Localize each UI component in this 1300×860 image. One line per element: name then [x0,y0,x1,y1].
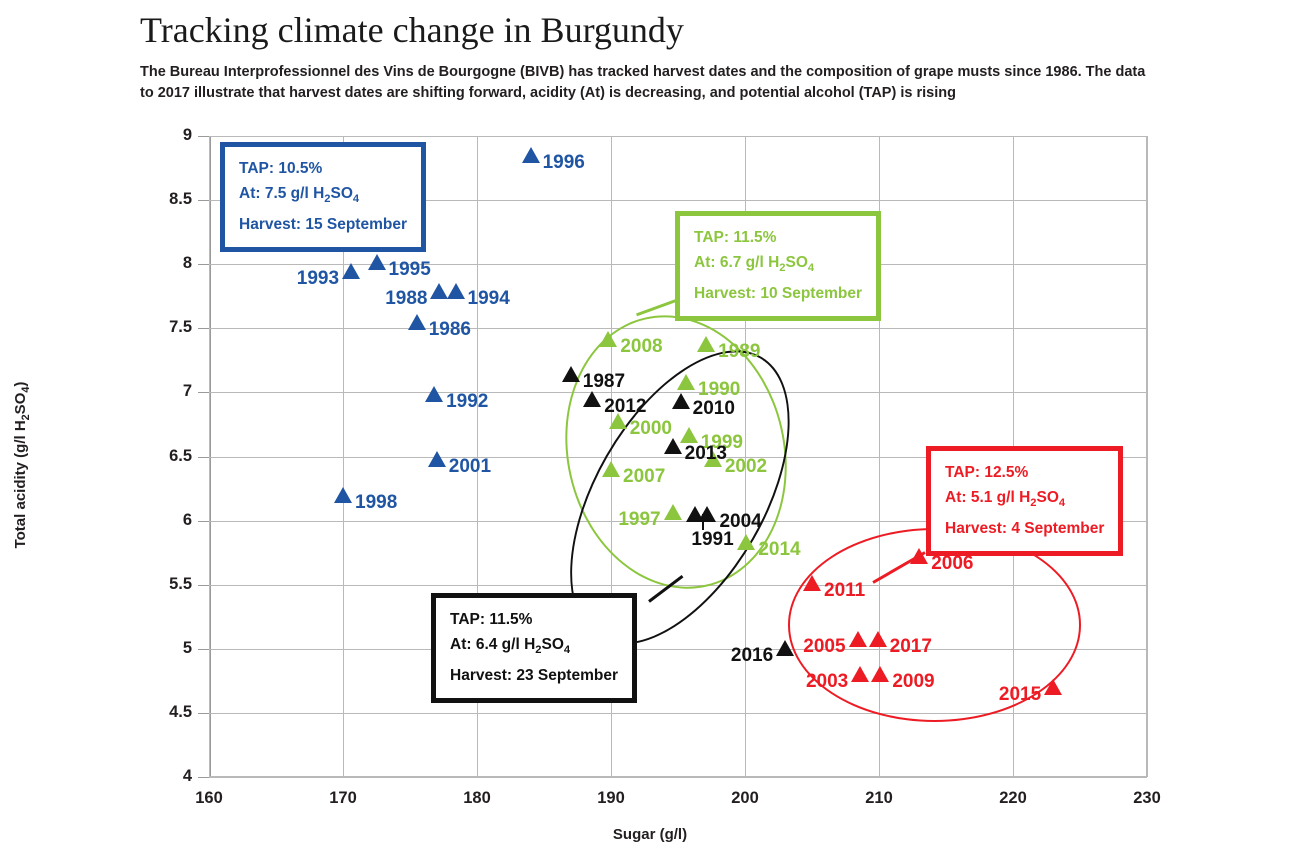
y-axis-title-paren: ) [12,382,29,387]
marker-triangle-icon [428,451,446,467]
data-point-label: 2017 [890,637,932,656]
data-point-label: 1995 [389,260,431,279]
marker-triangle-icon [776,640,794,656]
data-point-label: 2014 [758,540,800,559]
callout-green: TAP: 11.5% At: 6.7 g/l H2SO4 Harvest: 10… [675,211,881,321]
data-point-label: 2005 [803,637,845,656]
marker-triangle-icon [871,666,889,682]
x-axis-title: Sugar (g/l) [0,826,1300,843]
data-point-label: 1998 [355,493,397,512]
callout-black-harvest: Harvest: 23 September [450,663,618,688]
data-point-label: 2007 [623,467,665,486]
marker-triangle-icon [425,386,443,402]
marker-triangle-icon [737,534,755,550]
callout-blue-at-sub4: 4 [353,193,359,205]
marker-triangle-icon [803,575,821,591]
callout-black-at-sub4: 4 [564,644,570,656]
marker-triangle-icon [1044,679,1062,695]
marker-triangle-icon [664,504,682,520]
data-point-label: 2000 [630,419,672,438]
marker-triangle-icon [697,336,715,352]
y-axis-tick [198,200,209,201]
y-tick-label: 4 [132,767,192,786]
gridline-horizontal [209,777,1147,778]
data-point-label: 2002 [725,457,767,476]
marker-triangle-icon [334,487,352,503]
y-axis-tick [198,585,209,586]
data-point-label: 1993 [297,269,339,288]
callout-red-at: At: 5.1 g/l H2SO4 [945,485,1104,516]
data-point-label: 1987 [583,372,625,391]
gridline-horizontal [209,713,1147,714]
callout-red-harvest: Harvest: 4 September [945,516,1104,541]
marker-triangle-icon [599,331,617,347]
data-point-label: 1997 [618,510,660,529]
y-axis-tick [198,328,209,329]
callout-red-at-text: At: 5.1 g/l H [945,489,1030,506]
marker-triangle-icon [408,314,426,330]
callout-red-at-sub4: 4 [1059,497,1065,509]
y-axis-title-so: SO [12,393,29,415]
y-tick-label: 4.5 [132,703,192,722]
callout-green-at-sub4: 4 [808,262,814,274]
marker-triangle-icon [851,666,869,682]
data-point-label: 1986 [429,320,471,339]
callout-black-tap: TAP: 11.5% [450,607,618,632]
data-point-label: 1996 [543,153,585,172]
callout-green-tap: TAP: 11.5% [694,225,862,250]
data-point-label: 1991 [691,530,733,549]
callout-blue-harvest: Harvest: 15 September [239,212,407,237]
data-point-label: 2012 [604,397,646,416]
data-point-label: 1990 [698,380,740,399]
data-point-label: 2009 [892,672,934,691]
data-point-label: 1992 [446,392,488,411]
x-tick-label: 220 [983,789,1043,808]
marker-triangle-icon [522,147,540,163]
y-tick-label: 9 [132,126,192,145]
callout-blue-at-so: SO [330,185,352,202]
marker-triangle-icon [849,631,867,647]
gridline-horizontal [209,136,1147,137]
x-tick-label: 180 [447,789,507,808]
y-axis-tick [198,649,209,650]
y-axis-title-text: Total acidity (g/l H [12,420,29,548]
data-point-label: 2013 [685,444,727,463]
y-axis-title-sub-2: 2 [20,414,32,420]
y-axis-tick [198,777,209,778]
y-tick-label: 8 [132,254,192,273]
callout-black-at-text: At: 6.4 g/l H [450,636,535,653]
x-tick-label: 170 [313,789,373,808]
callout-blue: TAP: 10.5% At: 7.5 g/l H2SO4 Harvest: 15… [220,142,426,252]
callout-blue-at: At: 7.5 g/l H2SO4 [239,181,407,212]
callout-red: TAP: 12.5% At: 5.1 g/l H2SO4 Harvest: 4 … [926,446,1123,556]
data-point-label: 1989 [718,342,760,361]
marker-triangle-icon [342,263,360,279]
y-tick-label: 5 [132,639,192,658]
page-subtitle: The Bureau Interprofessionnel des Vins d… [140,62,1150,104]
data-point-label: 2008 [620,337,662,356]
data-point-label: 2003 [806,672,848,691]
y-tick-label: 5.5 [132,575,192,594]
marker-triangle-icon [680,427,698,443]
y-axis-tick [198,136,209,137]
y-tick-label: 7 [132,382,192,401]
callout-red-tap: TAP: 12.5% [945,460,1104,485]
x-tick-label: 230 [1117,789,1177,808]
callout-green-at-so: SO [785,254,807,271]
x-tick-label: 210 [849,789,909,808]
data-point-label: 2015 [999,685,1041,704]
page-title: Tracking climate change in Burgundy [140,9,684,51]
callout-blue-tap: TAP: 10.5% [239,156,407,181]
y-axis-title-sub-4: 4 [20,387,32,393]
data-point-label: 2006 [931,554,973,573]
y-axis-title: Total acidity (g/l H2SO4) [12,215,32,715]
x-tick-label: 160 [179,789,239,808]
data-point-label: 2001 [449,457,491,476]
y-axis-tick [198,521,209,522]
marker-triangle-icon [602,461,620,477]
callout-black-at: At: 6.4 g/l H2SO4 [450,632,618,663]
callout-green-harvest: Harvest: 10 September [694,281,862,306]
data-point-label: 2010 [693,399,735,418]
chart-canvas: Tracking climate change in Burgundy The … [0,0,1300,860]
callout-black-at-so: SO [541,636,563,653]
marker-triangle-icon [677,374,695,390]
marker-triangle-icon [562,366,580,382]
marker-triangle-icon [368,254,386,270]
callout-red-at-so: SO [1036,489,1058,506]
x-tick-label: 190 [581,789,641,808]
y-tick-label: 6 [132,511,192,530]
marker-triangle-icon [447,283,465,299]
y-axis-tick [198,457,209,458]
x-tick-label: 200 [715,789,775,808]
marker-triangle-icon [869,631,887,647]
marker-triangle-icon [583,391,601,407]
data-point-label: 2011 [824,581,865,600]
y-tick-label: 7.5 [132,318,192,337]
callout-black: TAP: 11.5% At: 6.4 g/l H2SO4 Harvest: 23… [431,593,637,703]
callout-blue-at-text: At: 7.5 g/l H [239,185,324,202]
marker-triangle-icon [664,438,682,454]
callout-green-at: At: 6.7 g/l H2SO4 [694,250,862,281]
leader-line-1991 [702,514,704,530]
y-axis-tick [198,713,209,714]
y-tick-label: 6.5 [132,447,192,466]
marker-triangle-icon [672,393,690,409]
data-point-label: 1994 [468,289,510,308]
y-axis-tick [198,392,209,393]
y-axis-tick [198,264,209,265]
data-point-label: 2016 [731,646,773,665]
x-axis-title-text: Sugar (g/l) [613,826,687,843]
gridline-vertical [1147,136,1148,777]
data-point-label: 1988 [385,289,427,308]
y-tick-label: 8.5 [132,190,192,209]
callout-green-at-text: At: 6.7 g/l H [694,254,779,271]
